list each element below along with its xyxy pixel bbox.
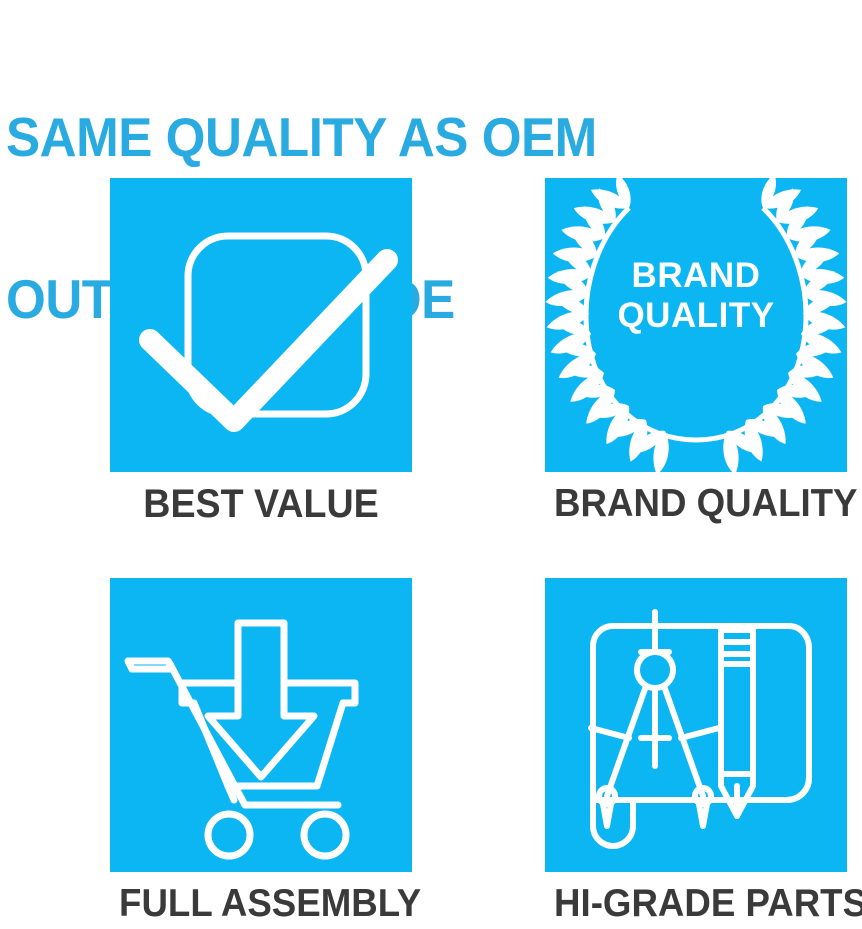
blueprint-compass-pencil-icon — [545, 578, 847, 872]
laurel-right — [696, 173, 847, 476]
feature-brand-quality: BRAND QUALITY BRAND QUALITY — [545, 178, 847, 526]
feature-tile-best-value — [110, 178, 412, 472]
checkbox-check-icon — [110, 178, 412, 472]
feature-hi-grade-parts: HI-GRADE PARTS — [545, 578, 847, 926]
feature-caption-brand-quality: BRAND QUALITY — [554, 482, 838, 526]
laurel-wreath-icon — [545, 178, 847, 472]
feature-caption-full-assembly: FULL ASSEMBLY — [119, 882, 403, 926]
feature-tile-hi-grade-parts — [545, 578, 847, 872]
feature-caption-hi-grade-parts: HI-GRADE PARTS — [554, 882, 838, 926]
shopping-cart-download-icon — [110, 578, 412, 872]
laurel-left — [545, 173, 696, 476]
feature-tile-brand-quality: BRAND QUALITY — [545, 178, 847, 472]
feature-full-assembly: FULL ASSEMBLY — [110, 578, 412, 926]
feature-caption-best-value: BEST VALUE — [119, 482, 403, 526]
feature-tile-full-assembly — [110, 578, 412, 872]
download-arrow-icon — [208, 623, 314, 777]
feature-grid: BEST VALUE — [0, 0, 862, 929]
feature-best-value: BEST VALUE — [110, 178, 412, 526]
promo-graphic: SAME QUALITY AS OEM OUTSIDE + INSIDE BES… — [0, 0, 862, 929]
